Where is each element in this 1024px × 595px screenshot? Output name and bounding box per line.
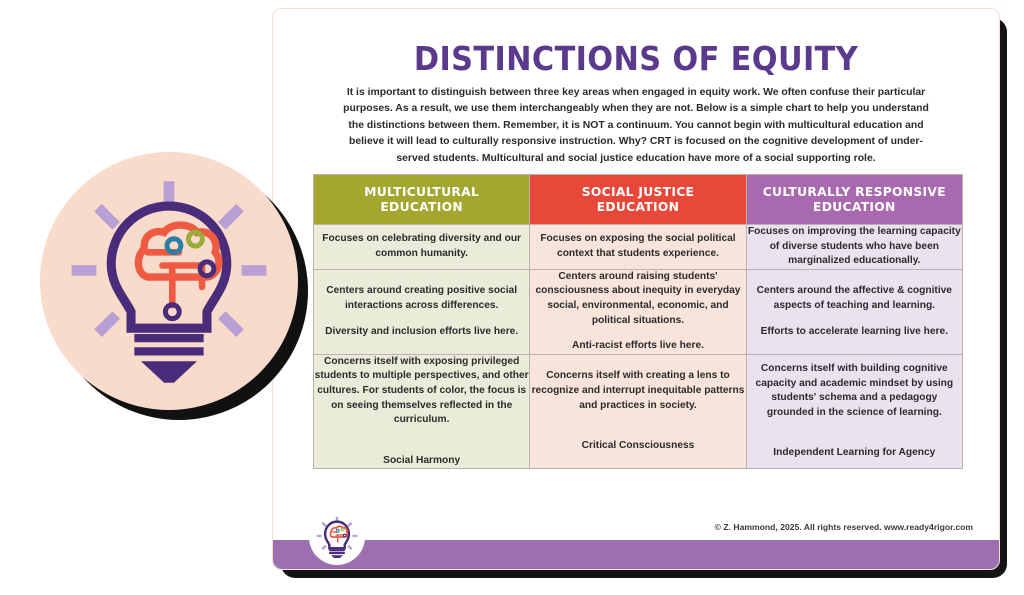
cell-social-justice-focus: Focuses on exposing the social political… bbox=[530, 225, 746, 270]
cell-highlight-tag: Diversity and inclusion efforts live her… bbox=[314, 325, 529, 340]
cell-outcome-tag: Social Harmony bbox=[314, 454, 529, 469]
table-row: Centers around creating positive social … bbox=[314, 269, 963, 354]
cell-multicultural-centers: Centers around creating positive social … bbox=[314, 269, 530, 354]
node-teal-icon bbox=[167, 239, 181, 253]
bulb-base-lines-icon bbox=[134, 338, 203, 351]
cell-body: Concerns itself with exposing privileged… bbox=[315, 356, 529, 425]
intro-paragraph: It is important to distinguish between t… bbox=[335, 85, 937, 167]
cell-culturally-responsive-concerns: Concerns itself with building cognitive … bbox=[746, 354, 962, 469]
screenshot-root: DISTINCTIONS OF EQUITY It is important t… bbox=[0, 0, 1024, 595]
cell-highlight-tag: Efforts to accelerate learning live here… bbox=[747, 325, 962, 340]
cell-multicultural-concerns: Concerns itself with exposing privileged… bbox=[314, 354, 530, 469]
column-header-multicultural-education: MULTICULTURAL EDUCATION bbox=[314, 175, 530, 225]
page-title: DISTINCTIONS OF EQUITY bbox=[302, 39, 970, 78]
footer-logo bbox=[309, 509, 365, 565]
header-line-1: CULTURALLY RESPONSIVE bbox=[763, 185, 946, 199]
node-purple-icon bbox=[200, 262, 214, 276]
cell-social-justice-centers: Centers around raising students' conscio… bbox=[530, 269, 746, 354]
node-filament-icon bbox=[165, 305, 179, 319]
cell-outcome-tag: Critical Consciousness bbox=[530, 439, 745, 454]
table-header-row: MULTICULTURAL EDUCATION SOCIAL JUSTICE E… bbox=[314, 175, 963, 225]
cell-culturally-responsive-focus: Focuses on improving the learning capaci… bbox=[746, 225, 962, 270]
header-line-2: EDUCATION bbox=[380, 200, 463, 214]
node-olive-icon bbox=[188, 232, 202, 246]
column-header-culturally-responsive-education: CULTURALLY RESPONSIVE EDUCATION bbox=[746, 175, 962, 225]
column-header-social-justice-education: SOCIAL JUSTICE EDUCATION bbox=[530, 175, 746, 225]
cell-body: Focuses on improving the learning capaci… bbox=[748, 226, 961, 266]
cell-social-justice-concerns: Concerns itself with creating a lens to … bbox=[530, 354, 746, 469]
cell-multicultural-focus: Focuses on celebrating diversity and our… bbox=[314, 225, 530, 270]
cell-highlight-tag: Anti-racist efforts live here. bbox=[530, 339, 745, 354]
cell-body: Concerns itself with building cognitive … bbox=[756, 363, 954, 418]
copyright-credit: © Z. Hammond, 2025. All rights reserved.… bbox=[715, 522, 973, 532]
cell-body: Centers around the affective & cognitive… bbox=[757, 285, 952, 311]
table-row: Focuses on celebrating diversity and our… bbox=[314, 225, 963, 270]
header-line-1: MULTICULTURAL bbox=[364, 185, 479, 199]
cell-body: Concerns itself with creating a lens to … bbox=[532, 370, 745, 410]
lightbulb-brain-icon bbox=[316, 516, 358, 558]
header-line-1: SOCIAL JUSTICE bbox=[582, 185, 695, 199]
cell-body: Centers around creating positive social … bbox=[326, 285, 517, 311]
cell-body: Focuses on exposing the social political… bbox=[540, 233, 735, 259]
lightbulb-brain-icon bbox=[69, 178, 269, 386]
bulb-screw-icon bbox=[141, 361, 197, 382]
table-row: Concerns itself with exposing privileged… bbox=[314, 354, 963, 469]
header-line-2: EDUCATION bbox=[597, 200, 680, 214]
cell-body: Centers around raising students' conscio… bbox=[536, 271, 741, 326]
footer-bar bbox=[273, 540, 999, 569]
cell-culturally-responsive-centers: Centers around the affective & cognitive… bbox=[746, 269, 962, 354]
cell-outcome-tag: Independent Learning for Agency bbox=[747, 446, 962, 461]
equity-chart-page: DISTINCTIONS OF EQUITY It is important t… bbox=[272, 8, 1000, 570]
distinctions-table: MULTICULTURAL EDUCATION SOCIAL JUSTICE E… bbox=[313, 174, 963, 469]
header-line-2: EDUCATION bbox=[813, 200, 896, 214]
brand-badge bbox=[40, 152, 298, 410]
cell-body: Focuses on celebrating diversity and our… bbox=[322, 233, 521, 259]
